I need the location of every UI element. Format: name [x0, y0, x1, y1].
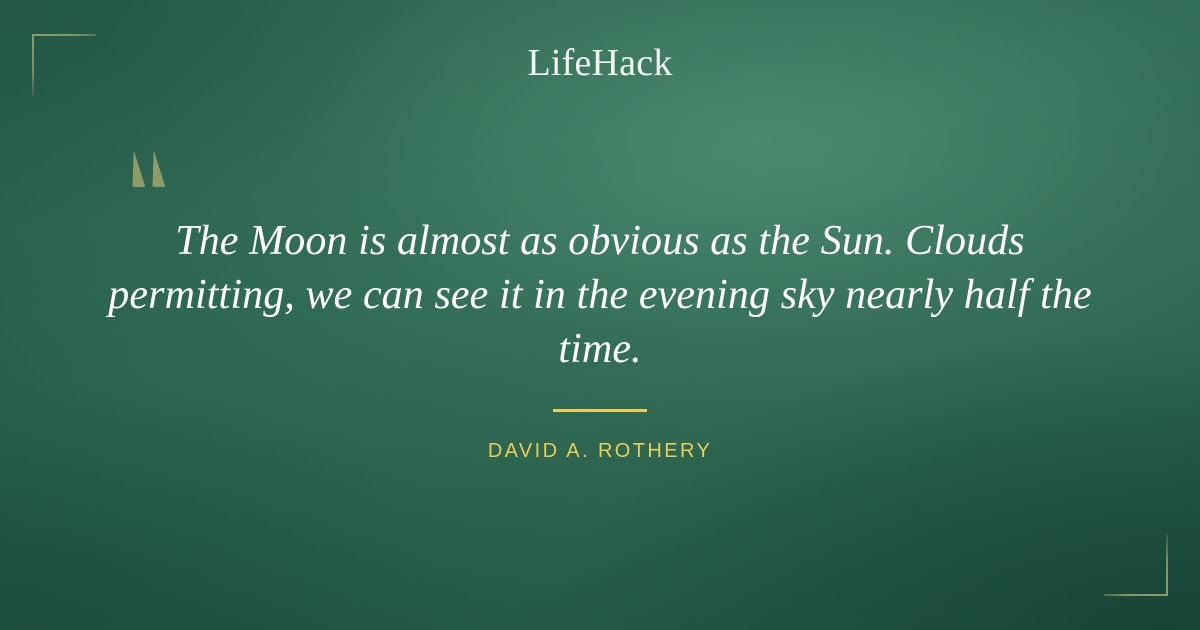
- corner-bracket-bottom-right-horizontal: [1104, 594, 1168, 596]
- brand-logo: LifeHack: [0, 40, 1200, 86]
- quotation-mark-stroke-right: [152, 150, 166, 187]
- quotation-mark-stroke-left: [132, 150, 146, 187]
- quote-line: permitting, we can see it in the evening…: [100, 268, 1100, 322]
- divider: [553, 409, 647, 412]
- quote-line: The Moon is almost as obvious as the Sun…: [100, 214, 1100, 268]
- quote-line: time.: [100, 322, 1100, 376]
- quote-author: DAVID A. ROTHERY: [0, 438, 1200, 464]
- corner-bracket-top-left-horizontal: [32, 34, 96, 36]
- corner-bracket-bottom-right-vertical: [1166, 534, 1168, 596]
- quotation-mark-icon: [131, 150, 175, 192]
- quote-text: The Moon is almost as obvious as the Sun…: [100, 214, 1100, 376]
- quote-card: LifeHack The Moon is almost as obvious a…: [0, 0, 1200, 630]
- corner-bracket-bottom-right-icon: [1104, 534, 1168, 596]
